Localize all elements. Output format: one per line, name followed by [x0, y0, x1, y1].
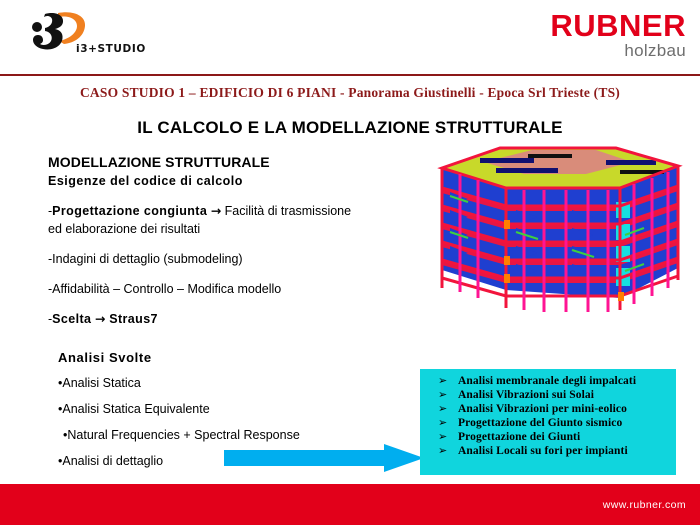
page-title: IL CALCOLO E LA MODELLAZIONE STRUTTURALE [0, 118, 700, 138]
list-item-label: Progettazione dei Giunti [458, 431, 580, 443]
bullet-paragraph-2: -Indagini di dettaglio (submodeling) [48, 250, 448, 268]
bullet-bold-1: Progettazione congiunta [52, 204, 207, 218]
bullet-paragraph-3: -Affidabilità – Controllo – Modifica mod… [48, 280, 448, 298]
arrow-bullet-icon: ➢ [438, 444, 458, 457]
studio-logo: i3+STUDIO [28, 10, 158, 62]
list-item: ➢ Analisi membranale degli impalcati [420, 374, 676, 387]
list-item-label: Analisi Vibrazioni sui Solai [458, 389, 594, 401]
list-item: •Analisi Statica [58, 376, 398, 391]
arrow-bullet-icon: ➢ [438, 402, 458, 415]
list-item: ➢ Progettazione del Giunto sismico [420, 416, 676, 429]
list-item-label: Progettazione del Giunto sismico [458, 417, 622, 429]
list-item-label: Analisi Locali su fori per impianti [458, 445, 628, 457]
list-item: ➢ Analisi Locali su fori per impianti [420, 444, 676, 457]
bullet-rest-3: Affidabilità – Controllo – Modifica mode… [52, 282, 281, 296]
list-item: ➢ Analisi Vibrazioni sui Solai [420, 388, 676, 401]
body-copy: MODELLAZIONE STRUTTURALE Esigenze del co… [48, 153, 448, 328]
bullet-rest-2: Indagini di dettaglio (submodeling) [52, 252, 242, 266]
studio-logo-text: i3+STUDIO [76, 43, 146, 55]
analisi-dettaglio-panel: ➢ Analisi membranale degli impalcati ➢ A… [420, 369, 676, 475]
rubner-logo: RUBNER holzbau [550, 10, 686, 61]
bullet-paragraph-4: -Scelta → Straus7 [48, 310, 448, 328]
section-heading: MODELLAZIONE STRUTTURALE [48, 153, 448, 172]
list-item: ➢ Analisi Vibrazioni per mini-eolico [420, 402, 676, 415]
footer-url[interactable]: www.rubner.com [603, 499, 686, 511]
arrow-bullet-icon: ➢ [438, 430, 458, 443]
arrow-bullet-icon: ➢ [438, 374, 458, 387]
rubner-brand-subtitle: holzbau [550, 42, 686, 61]
footer-band [0, 484, 700, 525]
analisi-svolte-heading: Analisi Svolte [58, 350, 398, 365]
list-item-label: Analisi Vibrazioni per mini-eolico [458, 403, 627, 415]
list-item: •Natural Frequencies + Spectral Response [58, 428, 398, 443]
arrow-bullet-icon: ➢ [438, 388, 458, 401]
list-item: ➢ Progettazione dei Giunti [420, 430, 676, 443]
bullet-bold-4: Scelta [52, 312, 91, 326]
case-study-title: CASO STUDIO 1 – EDIFICIO DI 6 PIANI - Pa… [0, 85, 700, 101]
right-arrow-glyph-1: → [211, 203, 221, 218]
section-subheading: Esigenze del codice di calcolo [48, 173, 448, 190]
header-divider-rule [0, 74, 700, 76]
bullet-paragraph-1: -Progettazione congiunta → Facilità di t… [48, 202, 448, 238]
bullet-rest-4: Straus7 [105, 312, 158, 326]
right-arrow-glyph-4: → [95, 311, 105, 326]
list-item: •Analisi Statica Equivalente [58, 402, 398, 417]
bullet-rest-1: Facilità di trasmissione [221, 204, 351, 218]
right-arrow-icon [224, 444, 424, 472]
rubner-brand-name: RUBNER [550, 10, 686, 41]
arrow-bullet-icon: ➢ [438, 416, 458, 429]
list-item-label: Analisi membranale degli impalcati [458, 375, 636, 387]
bullet-line2-1: ed elaborazione dei risultati [48, 222, 200, 236]
3d-structural-frame-model [420, 140, 698, 320]
